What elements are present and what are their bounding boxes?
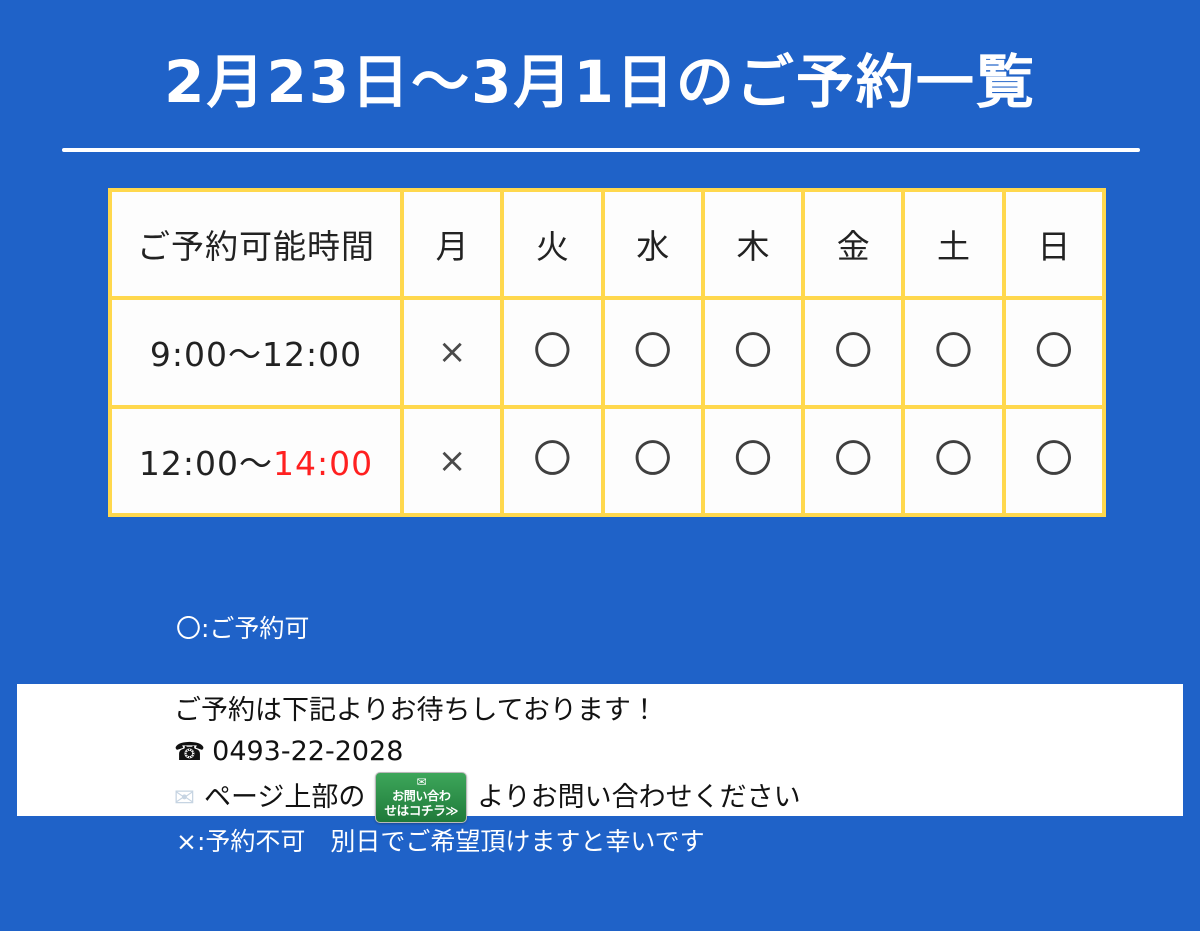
mark-available: 〇 <box>533 440 571 478</box>
contact-panel: ご予約は下記よりお待ちしております！ ☎ 0493-22-2028 ✉ ページ上… <box>17 684 1183 816</box>
contact-phone-line: ☎ 0493-22-2028 <box>174 731 801 772</box>
cell-sun-1: 〇 <box>1004 298 1104 406</box>
mark-available: 〇 <box>533 332 571 370</box>
legend-line-available: 〇:ご予約可 <box>176 611 705 647</box>
row-time-suffix-2: 14:00 <box>273 444 373 483</box>
table-row: 9:00〜12:00 × 〇 〇 〇 〇 〇 〇 <box>110 298 1104 406</box>
contact-mail-text-before: ページ上部の <box>204 777 365 818</box>
row-time-label-1: 9:00〜12:00 <box>110 298 402 406</box>
column-header-mon: 月 <box>402 190 502 298</box>
mark-available: 〇 <box>634 440 672 478</box>
row-time-label-2: 12:00〜14:00 <box>110 407 402 515</box>
page-title-area: 2月23日〜3月1日のご予約一覧 <box>0 52 1200 113</box>
column-header-time: ご予約可能時間 <box>110 190 402 298</box>
contact-mail-line: ✉ ページ上部の ✉お問い合わ せはコチラ≫ よりお問い合わせください <box>174 772 801 823</box>
reservation-notice-page: 2月23日〜3月1日のご予約一覧 ご予約可能時間 月 火 水 木 金 土 日 9… <box>0 0 1200 848</box>
cell-tue-2: 〇 <box>502 407 602 515</box>
cell-tue-1: 〇 <box>502 298 602 406</box>
contact-intro-line: ご予約は下記よりお待ちしております！ <box>174 690 801 731</box>
mark-available: 〇 <box>734 440 772 478</box>
cell-thu-2: 〇 <box>703 407 803 515</box>
mark-available: 〇 <box>1035 332 1073 370</box>
column-header-thu: 木 <box>703 190 803 298</box>
mark-unavailable: × <box>438 335 467 369</box>
mark-unavailable: × <box>438 444 467 478</box>
contact-mail-text-after: よりお問い合わせください <box>477 777 800 818</box>
cell-fri-1: 〇 <box>803 298 903 406</box>
legend-line-unavailable: ×:予約不可 別日でご希望頂けますと幸いです <box>176 824 705 860</box>
cell-wed-2: 〇 <box>603 407 703 515</box>
phone-icon: ☎ <box>174 733 205 771</box>
mark-available: 〇 <box>734 332 772 370</box>
mark-available: 〇 <box>935 332 973 370</box>
cell-wed-1: 〇 <box>603 298 703 406</box>
column-header-tue: 火 <box>502 190 602 298</box>
schedule-table-wrap: ご予約可能時間 月 火 水 木 金 土 日 9:00〜12:00 × 〇 〇 〇… <box>108 188 1106 517</box>
contact-inquiry-button-line2: せはコチラ≫ <box>384 804 458 819</box>
column-header-sun: 日 <box>1004 190 1104 298</box>
row-time-prefix-2: 12:00〜 <box>139 444 273 483</box>
page-title: 2月23日〜3月1日のご予約一覧 <box>0 52 1200 113</box>
cell-sat-1: 〇 <box>903 298 1003 406</box>
envelope-icon: ✉ <box>174 779 195 817</box>
table-row: 12:00〜14:00 × 〇 〇 〇 〇 〇 〇 <box>110 407 1104 515</box>
mark-available: 〇 <box>1035 440 1073 478</box>
cell-mon-1: × <box>402 298 502 406</box>
cell-mon-2: × <box>402 407 502 515</box>
contact-phone-number[interactable]: 0493-22-2028 <box>212 731 403 772</box>
row-time-prefix-1: 9:00〜12:00 <box>150 335 362 374</box>
contact-panel-content: ご予約は下記よりお待ちしております！ ☎ 0493-22-2028 ✉ ページ上… <box>174 690 801 823</box>
cell-thu-1: 〇 <box>703 298 803 406</box>
schedule-table: ご予約可能時間 月 火 水 木 金 土 日 9:00〜12:00 × 〇 〇 〇… <box>108 188 1106 517</box>
column-header-fri: 金 <box>803 190 903 298</box>
mark-available: 〇 <box>634 332 672 370</box>
contact-inquiry-button-line1: ✉お問い合わ <box>384 776 458 804</box>
contact-inquiry-button-line1-text: お問い合わ <box>384 790 458 804</box>
cell-sat-2: 〇 <box>903 407 1003 515</box>
contact-inquiry-button[interactable]: ✉お問い合わ せはコチラ≫ <box>375 772 467 823</box>
title-divider <box>62 148 1140 152</box>
mark-available: 〇 <box>834 332 872 370</box>
envelope-icon: ✉ <box>384 776 458 790</box>
column-header-sat: 土 <box>903 190 1003 298</box>
table-header-row: ご予約可能時間 月 火 水 木 金 土 日 <box>110 190 1104 298</box>
column-header-wed: 水 <box>603 190 703 298</box>
cell-sun-2: 〇 <box>1004 407 1104 515</box>
contact-intro-text: ご予約は下記よりお待ちしております！ <box>174 690 658 731</box>
cell-fri-2: 〇 <box>803 407 903 515</box>
mark-available: 〇 <box>935 440 973 478</box>
mark-available: 〇 <box>834 440 872 478</box>
